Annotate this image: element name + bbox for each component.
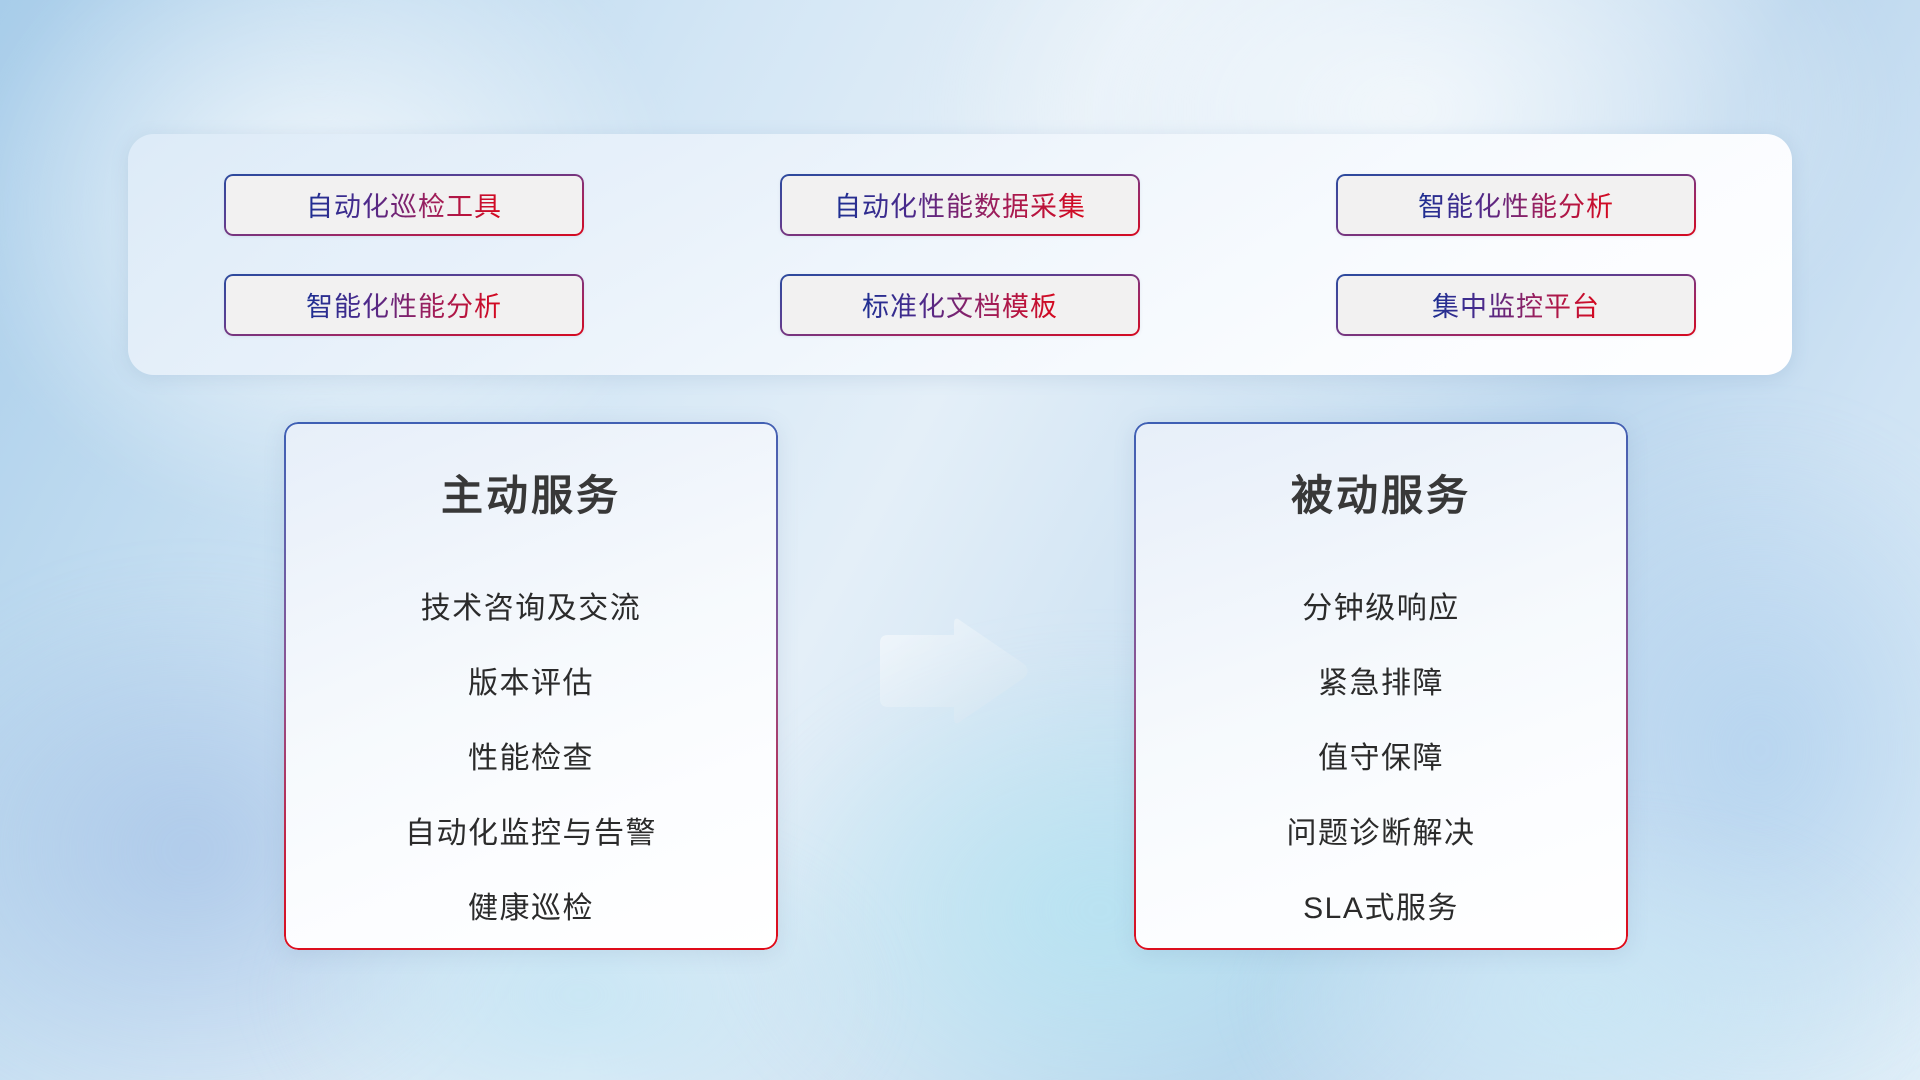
list-item: 技术咨询及交流: [421, 583, 642, 627]
capability-pill-6[interactable]: 集中监控平台: [1336, 274, 1696, 336]
card-inner: 被动服务 分钟级响应 紧急排障 值守保障 问题诊断解决 SLA式服务: [1134, 422, 1628, 950]
capability-pill-3[interactable]: 智能化性能分析: [1336, 174, 1696, 236]
list-item: 分钟级响应: [1302, 583, 1460, 627]
capability-pill-5[interactable]: 标准化文档模板: [780, 274, 1140, 336]
list-item: SLA式服务: [1303, 883, 1459, 927]
arrow-right-icon: [872, 614, 1032, 728]
capability-pill-label: 智能化性能分析: [1418, 185, 1614, 224]
capability-pill-4[interactable]: 智能化性能分析: [224, 274, 584, 336]
capability-pill-label: 集中监控平台: [1432, 285, 1600, 324]
list-item: 值守保障: [1318, 733, 1444, 777]
list-item: 问题诊断解决: [1287, 808, 1476, 852]
list-item: 版本评估: [468, 658, 594, 702]
capabilities-panel: 自动化巡检工具 自动化性能数据采集 智能化性能分析 智能化性能分析 标准化文档模…: [128, 134, 1792, 375]
card-inner: 主动服务 技术咨询及交流 版本评估 性能检查 自动化监控与告警 健康巡检: [284, 422, 778, 950]
capability-pill-label: 自动化性能数据采集: [834, 185, 1086, 224]
capability-pill-label: 标准化文档模板: [862, 285, 1058, 324]
list-item: 健康巡检: [468, 883, 594, 927]
card-title: 被动服务: [1291, 462, 1471, 523]
capability-pill-2[interactable]: 自动化性能数据采集: [780, 174, 1140, 236]
reactive-service-card: 被动服务 分钟级响应 紧急排障 值守保障 问题诊断解决 SLA式服务: [1134, 422, 1628, 950]
capability-pill-grid: 自动化巡检工具 自动化性能数据采集 智能化性能分析 智能化性能分析 标准化文档模…: [224, 174, 1696, 336]
reactive-service-list: 分钟级响应 紧急排障 值守保障 问题诊断解决 SLA式服务: [1287, 583, 1476, 927]
proactive-service-list: 技术咨询及交流 版本评估 性能检查 自动化监控与告警 健康巡检: [405, 583, 657, 927]
proactive-service-card: 主动服务 技术咨询及交流 版本评估 性能检查 自动化监控与告警 健康巡检: [284, 422, 778, 950]
list-item: 性能检查: [468, 733, 594, 777]
list-item: 紧急排障: [1318, 658, 1444, 702]
capability-pill-label: 智能化性能分析: [306, 285, 502, 324]
card-title: 主动服务: [441, 462, 621, 523]
capability-pill-label: 自动化巡检工具: [306, 185, 502, 224]
capability-pill-1[interactable]: 自动化巡检工具: [224, 174, 584, 236]
list-item: 自动化监控与告警: [405, 808, 657, 852]
